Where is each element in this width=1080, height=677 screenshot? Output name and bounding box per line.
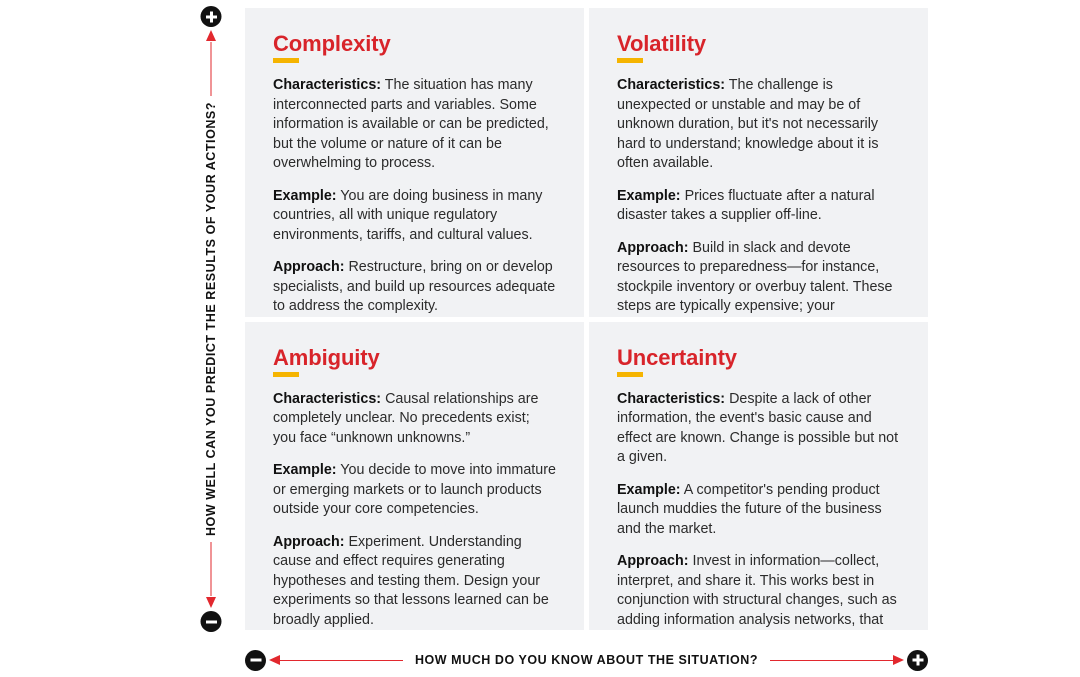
horizontal-axis-line-left [266,650,406,671]
approach-paragraph: Approach: Restructure, bring on or devel… [273,258,556,316]
approach-label: Approach: [617,553,689,569]
example-label: Example: [617,482,681,498]
quadrant-volatility[interactable]: Volatility Characteristics: The challeng… [589,8,928,317]
horizontal-axis-line-right [767,650,907,671]
characteristics-paragraph: Characteristics: The situation has many … [273,76,556,174]
characteristics-label: Characteristics: [273,77,381,93]
minus-circle-icon [245,650,266,671]
characteristics-label: Characteristics: [273,391,381,407]
arrow-left-icon [269,655,280,665]
title-underline-accent [617,372,643,377]
example-paragraph: Example: You are doing business in many … [273,187,556,246]
plus-circle-icon [907,650,928,671]
example-label: Example: [273,188,337,204]
approach-label: Approach: [617,240,689,256]
approach-paragraph: Approach: Invest in information—collect,… [617,552,900,630]
vuca-matrix-figure: HOW WELL CAN YOU PREDICT THE RESULTS OF … [0,0,1080,677]
arrow-up-icon [206,30,216,41]
example-label: Example: [617,188,681,204]
quadrant-title-block: Ambiguity [273,346,380,377]
horizontal-axis-label: HOW MUCH DO YOU KNOW ABOUT THE SITUATION… [406,653,767,667]
quadrant-grid: Complexity Characteristics: The situatio… [245,8,928,630]
quadrant-title: Ambiguity [273,346,380,369]
quadrant-title-block: Complexity [273,32,391,63]
approach-paragraph: Approach: Build in slack and devote reso… [617,239,900,317]
characteristics-label: Characteristics: [617,77,725,93]
title-underline-accent [617,58,643,63]
quadrant-uncertainty[interactable]: Uncertainty Characteristics: Despite a l… [589,322,928,631]
approach-paragraph: Approach: Experiment. Understanding caus… [273,533,556,630]
characteristics-paragraph: Characteristics: The challenge is unexpe… [617,76,900,174]
example-paragraph: Example: You decide to move into immatur… [273,461,556,520]
approach-label: Approach: [273,259,345,275]
example-paragraph: Example: A competitor's pending product … [617,481,900,540]
approach-label: Approach: [273,534,345,550]
characteristics-label: Characteristics: [617,391,725,407]
example-paragraph: Example: Prices fluctuate after a natura… [617,187,900,226]
example-label: Example: [273,462,337,478]
quadrant-title: Volatility [617,32,706,55]
horizontal-axis: HOW MUCH DO YOU KNOW ABOUT THE SITUATION… [245,648,928,672]
quadrant-complexity[interactable]: Complexity Characteristics: The situatio… [245,8,584,317]
quadrant-title: Complexity [273,32,391,55]
vertical-axis-label: HOW WELL CAN YOU PREDICT THE RESULTS OF … [204,96,218,542]
quadrant-ambiguity[interactable]: Ambiguity Characteristics: Causal relati… [245,322,584,631]
title-underline-accent [273,372,299,377]
arrow-right-icon [893,655,904,665]
arrow-down-icon [206,597,216,608]
vertical-axis: HOW WELL CAN YOU PREDICT THE RESULTS OF … [196,6,226,632]
quadrant-title: Uncertainty [617,346,737,369]
quadrant-title-block: Volatility [617,32,706,63]
minus-circle-icon [201,611,222,632]
characteristics-paragraph: Characteristics: Despite a lack of other… [617,390,900,468]
title-underline-accent [273,58,299,63]
characteristics-paragraph: Characteristics: Causal relationships ar… [273,390,556,449]
quadrant-title-block: Uncertainty [617,346,737,377]
plus-circle-icon [201,6,222,27]
